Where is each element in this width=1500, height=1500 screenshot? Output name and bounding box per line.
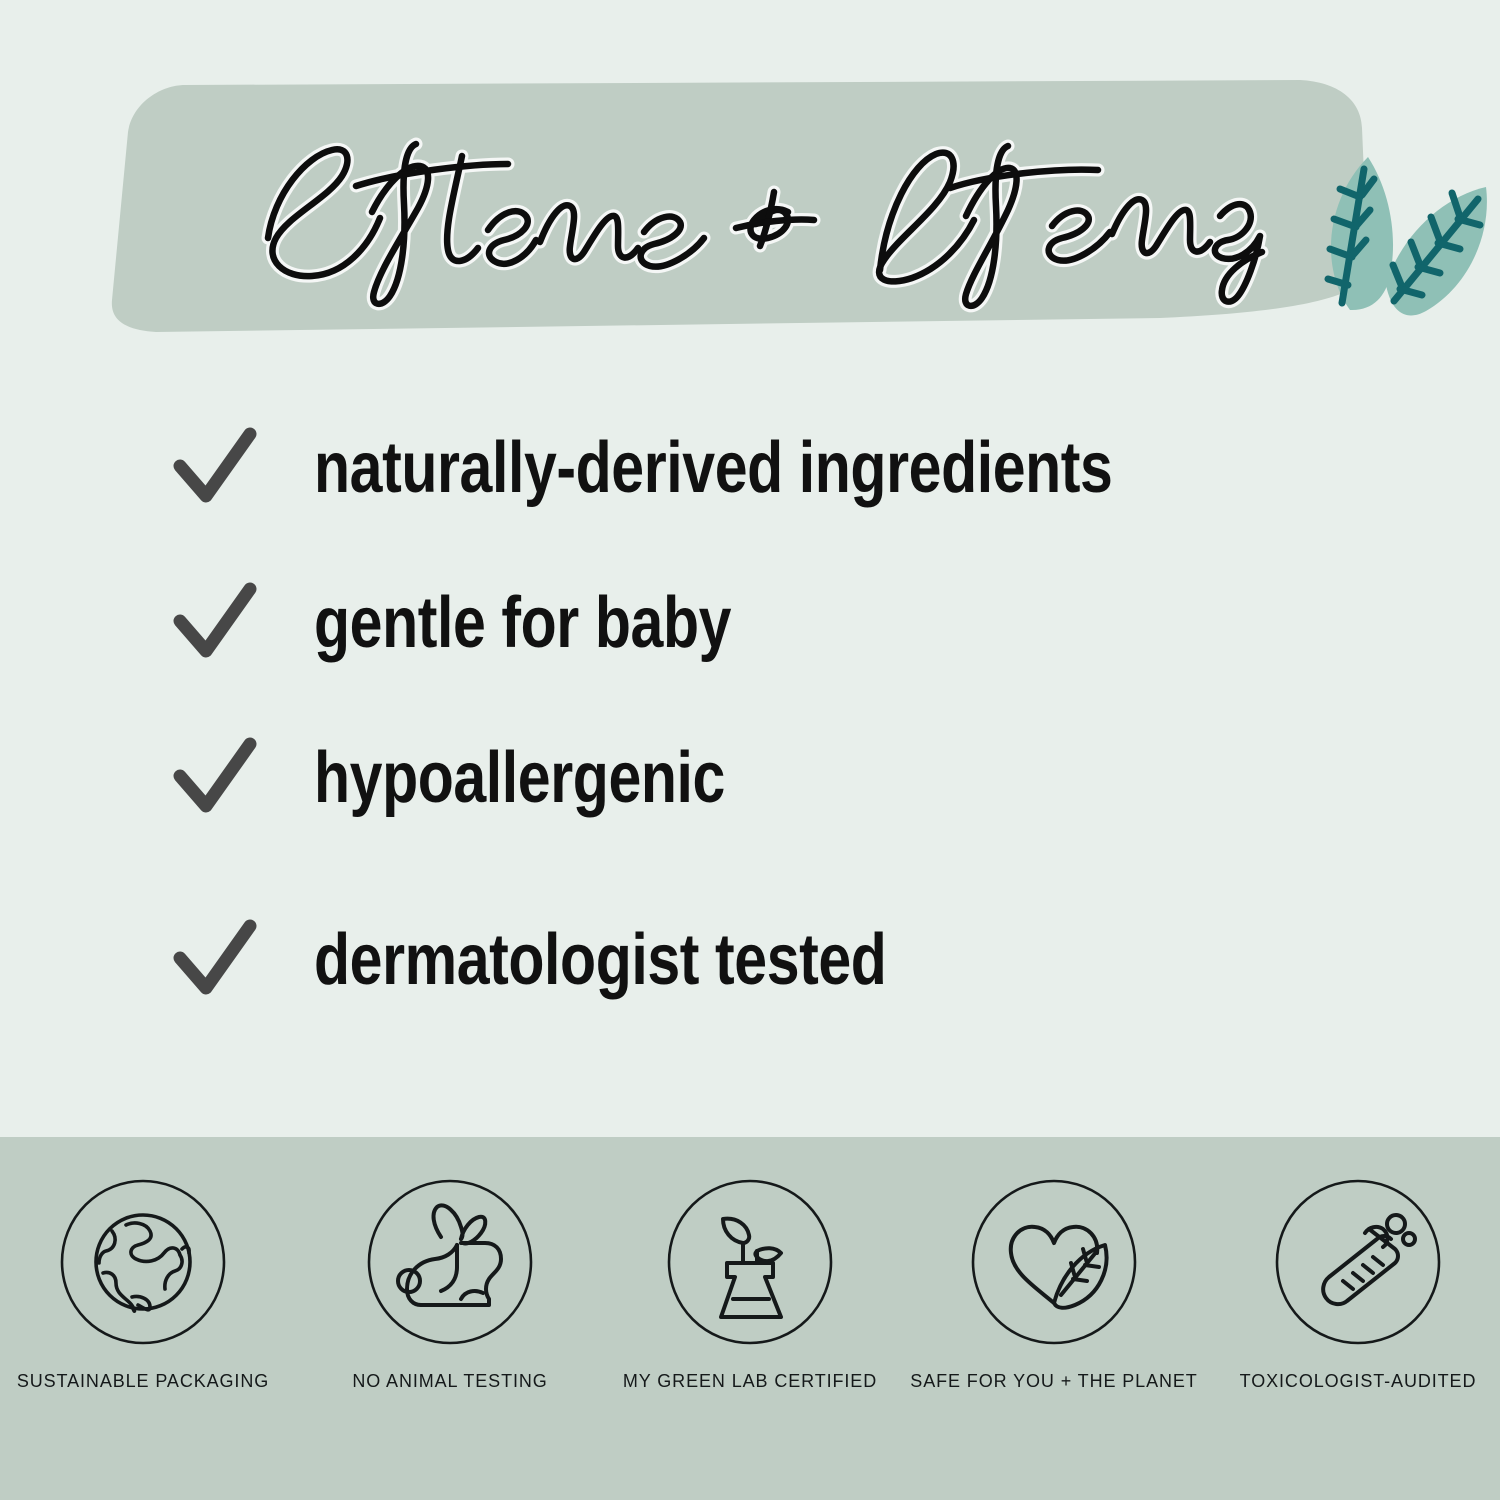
benefit-item: dermatologist tested <box>170 900 1012 1020</box>
badge-label: TOXICOLOGIST-AUDITED <box>1240 1371 1477 1392</box>
badge-label: SAFE FOR YOU + THE PLANET <box>910 1371 1197 1392</box>
badge-label: SUSTAINABLE PACKAGING <box>17 1371 269 1392</box>
heart-leaf-icon <box>969 1177 1139 1347</box>
badge-no-animal-testing: NO ANIMAL TESTING <box>310 1177 590 1392</box>
rabbit-icon <box>365 1177 535 1347</box>
badge-toxicologist-audited: TOXICOLOGIST-AUDITED <box>1218 1177 1498 1392</box>
badge-my-green-lab-certified: MY GREEN LAB CERTIFIED <box>610 1177 890 1392</box>
badge-label: NO ANIMAL TESTING <box>352 1371 547 1392</box>
test-tube-icon <box>1273 1177 1443 1347</box>
check-icon <box>170 732 262 824</box>
product-benefits-infographic: Softens + Detangles naturally-derived in… <box>0 0 1500 1500</box>
benefit-item: hypoallergenic <box>170 718 815 838</box>
benefit-label: naturally-derived ingredients <box>314 432 1112 504</box>
badge-sustainable-packaging: SUSTAINABLE PACKAGING <box>3 1177 283 1392</box>
benefit-item: gentle for baby <box>170 563 823 683</box>
benefit-label: dermatologist tested <box>314 924 886 996</box>
page-title: Softens + Detangles <box>240 120 1300 310</box>
benefit-label: hypoallergenic <box>314 742 725 814</box>
badge-safe-for-you-and-planet: SAFE FOR YOU + THE PLANET <box>914 1177 1194 1392</box>
check-icon <box>170 914 262 1006</box>
flask-sprout-icon <box>665 1177 835 1347</box>
benefits-list: naturally-derived ingredients gentle for… <box>0 400 1500 1120</box>
benefit-label: gentle for baby <box>314 587 731 659</box>
header-banner: Softens + Detangles <box>0 0 1500 400</box>
globe-icon <box>58 1177 228 1347</box>
check-icon <box>170 577 262 669</box>
check-icon <box>170 422 262 514</box>
headline-strokes <box>268 144 1262 306</box>
headline-script: Softens + Detangles <box>240 120 1300 310</box>
certification-badge-strip: SUSTAINABLE PACKAGING NO ANIMAL TESTING <box>0 1137 1500 1500</box>
leaf-sprig-icon <box>1290 125 1500 355</box>
benefit-item: naturally-derived ingredients <box>170 408 1288 528</box>
badge-label: MY GREEN LAB CERTIFIED <box>623 1371 877 1392</box>
